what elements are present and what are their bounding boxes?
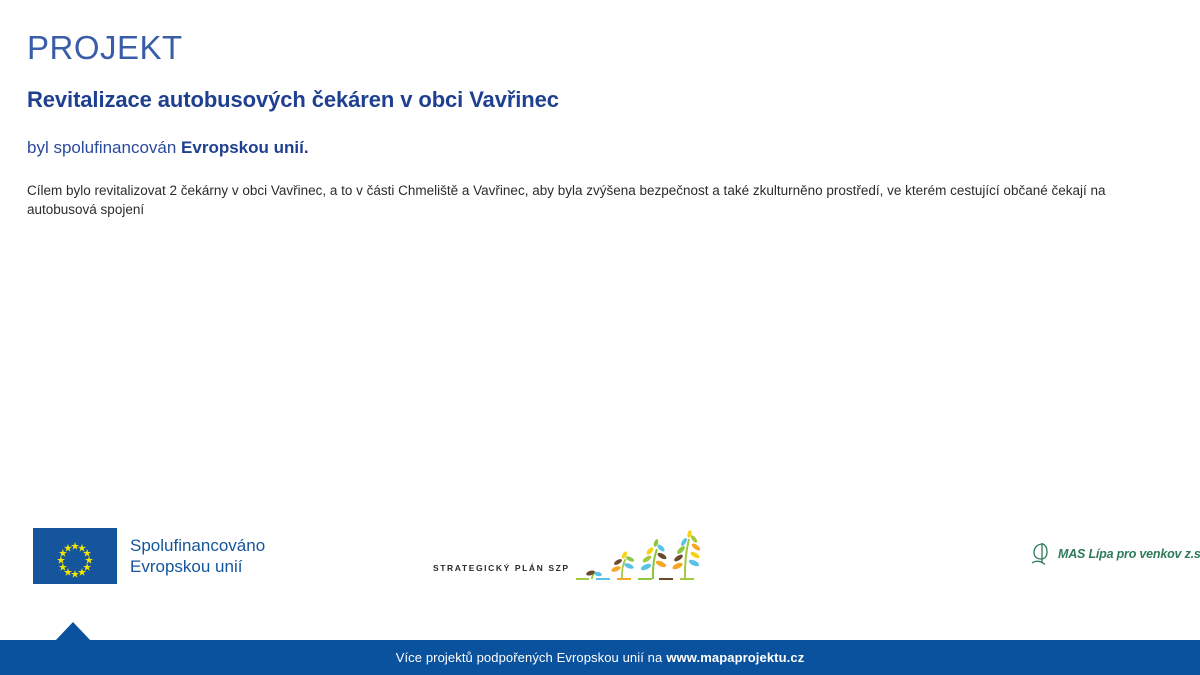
cofinanced-strong: Evropskou unií. bbox=[181, 138, 309, 157]
page-kicker: PROJEKT bbox=[27, 28, 1177, 68]
cofinanced-prefix: byl spolufinancován bbox=[27, 138, 181, 157]
eu-logo: Spolufinancováno Evropskou unií bbox=[33, 528, 265, 584]
mas-logo-label: MAS Lípa pro venkov z.s. bbox=[1058, 547, 1200, 561]
cofinanced-line: byl spolufinancován Evropskou unií. bbox=[27, 136, 1177, 159]
slide-canvas: PROJEKT Revitalizace autobusových čekáre… bbox=[0, 0, 1200, 675]
szp-logo-label: STRATEGICKÝ PLÁN SZP bbox=[433, 563, 570, 585]
footer-text: Více projektů podpořených Evropskou unií… bbox=[0, 640, 1200, 675]
logo-row: Spolufinancováno Evropskou unií STRATEGI… bbox=[0, 515, 1200, 600]
footer-bar: Více projektů podpořených Evropskou unií… bbox=[0, 640, 1200, 675]
content-block: PROJEKT Revitalizace autobusových čekáre… bbox=[27, 28, 1177, 219]
mas-leaf-icon bbox=[1030, 541, 1054, 567]
page-title: Revitalizace autobusových čekáren v obci… bbox=[27, 86, 1177, 114]
footer-site-link[interactable]: www.mapaprojektu.cz bbox=[666, 650, 804, 665]
szp-plants-icon bbox=[574, 529, 709, 585]
project-description: Cílem bylo revitalizovat 2 čekárny v obc… bbox=[27, 181, 1177, 219]
eu-flag-icon bbox=[33, 528, 117, 584]
footer-notch-triangle bbox=[55, 622, 91, 641]
footer-text-prefix: Více projektů podpořených Evropskou unií… bbox=[396, 650, 663, 665]
mas-logo: MAS Lípa pro venkov z.s. bbox=[1030, 541, 1200, 567]
szp-logo: STRATEGICKÝ PLÁN SZP bbox=[433, 527, 709, 585]
eu-logo-label: Spolufinancováno Evropskou unií bbox=[130, 535, 265, 577]
